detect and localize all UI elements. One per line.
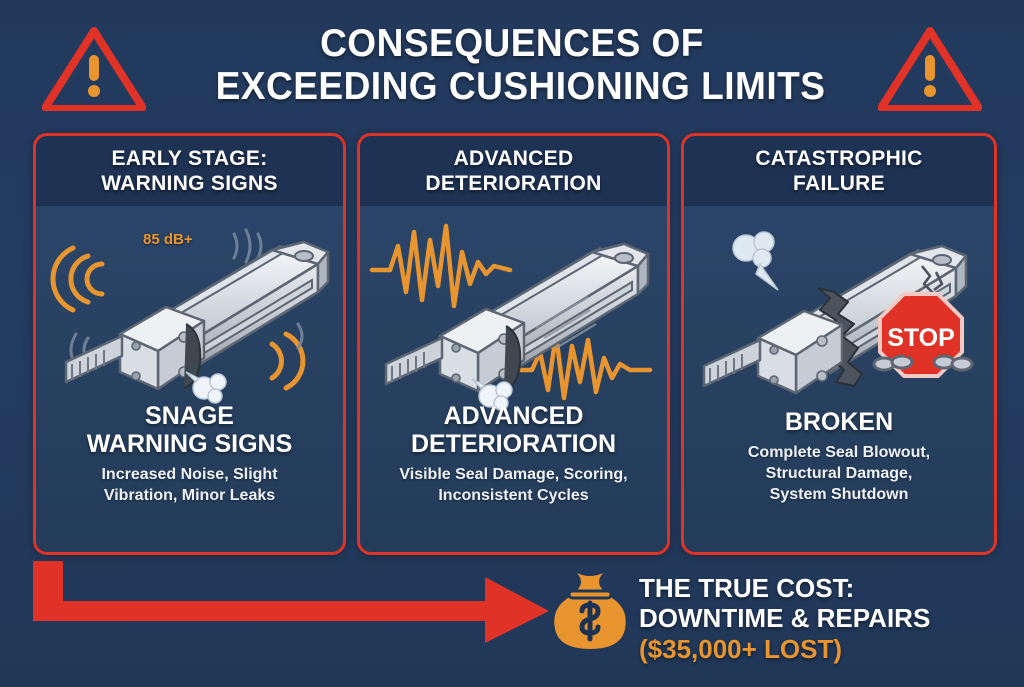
panel-header-line1: ADVANCED [425,146,601,171]
panel-illustration [360,206,667,411]
cost-line1: THE TRUE COST: [639,573,1019,603]
caption-sub-line2: Inconsistent Cycles [370,485,657,506]
page-title-line2: EXCEEDING CUSHIONING LIMITS [216,65,809,108]
vibration-waveform-icon [372,226,510,306]
cost-callout: THE TRUE COST: DOWNTIME & REPAIRS ($35,0… [639,573,1019,665]
panel-illustration: STOP [684,206,994,411]
panel-header-line1: CATASTROPHIC [755,146,922,171]
panel-body: ADVANCED DETERIORATION Visible Seal Dama… [360,206,667,552]
caption-line2: WARNING SIGNS [46,430,333,458]
warning-triangle-icon [42,25,146,111]
caption-line1: SNAGE [46,402,333,430]
panel-header-line2: DETERIORATION [425,171,601,196]
panel-header: CATASTROPHIC FAILURE [684,136,994,206]
panel-caption: BROKEN Complete Seal Blowout, Structural… [684,408,994,505]
stage-panels: EARLY STAGE: WARNING SIGNS [0,133,1024,551]
caption-sub-line2: Structural Damage, [694,463,984,484]
panel-header-line2: WARNING SIGNS [101,171,278,196]
money-bag-icon [551,569,629,653]
panel-early-stage[interactable]: EARLY STAGE: WARNING SIGNS [33,133,346,555]
panel-header: EARLY STAGE: WARNING SIGNS [36,136,343,206]
infographic-root: CONSEQUENCES OF EXCEEDING CUSHIONING LIM… [0,0,1024,687]
caption-sub-line1: Complete Seal Blowout, [694,442,984,463]
header: CONSEQUENCES OF EXCEEDING CUSHIONING LIM… [0,0,1024,128]
caption-line1: BROKEN [694,408,984,436]
air-blowout-icon [733,232,778,290]
panel-illustration: 85 dB+ [36,206,343,411]
db-level-label: 85 dB+ [143,231,193,248]
panel-body: STOP [684,206,994,552]
right-arrow-icon [33,561,553,643]
bottom-banner: THE TRUE COST: DOWNTIME & REPAIRS ($35,0… [0,551,1024,687]
panel-header-line2: FAILURE [755,171,922,196]
panel-header: ADVANCED DETERIORATION [360,136,667,206]
panel-header-line1: EARLY STAGE: [101,146,278,171]
caption-line1: ADVANCED [370,402,657,430]
panel-caption: ADVANCED DETERIORATION Visible Seal Dama… [360,402,667,506]
warning-triangle-icon [878,25,982,111]
caption-sub-line3: System Shutdown [694,484,984,505]
panel-advanced-deterioration[interactable]: ADVANCED DETERIORATION [357,133,670,555]
panel-catastrophic-failure[interactable]: CATASTROPHIC FAILURE [681,133,997,555]
panel-caption: SNAGE WARNING SIGNS Increased Noise, Sli… [36,402,343,506]
panel-body: 85 dB+ SNAGE WARNING SIGNS Increased Noi… [36,206,343,552]
page-title-line1: CONSEQUENCES OF [216,22,809,65]
caption-sub-line1: Visible Seal Damage, Scoring, [370,464,657,485]
cost-line3: ($35,000+ LOST) [639,633,1019,665]
page-title: CONSEQUENCES OF EXCEEDING CUSHIONING LIM… [216,22,809,108]
caption-line2: DETERIORATION [370,430,657,458]
caption-sub-line2: Vibration, Minor Leaks [46,485,333,506]
caption-sub-line1: Increased Noise, Slight [46,464,333,485]
cost-line2: DOWNTIME & REPAIRS [639,603,1019,633]
